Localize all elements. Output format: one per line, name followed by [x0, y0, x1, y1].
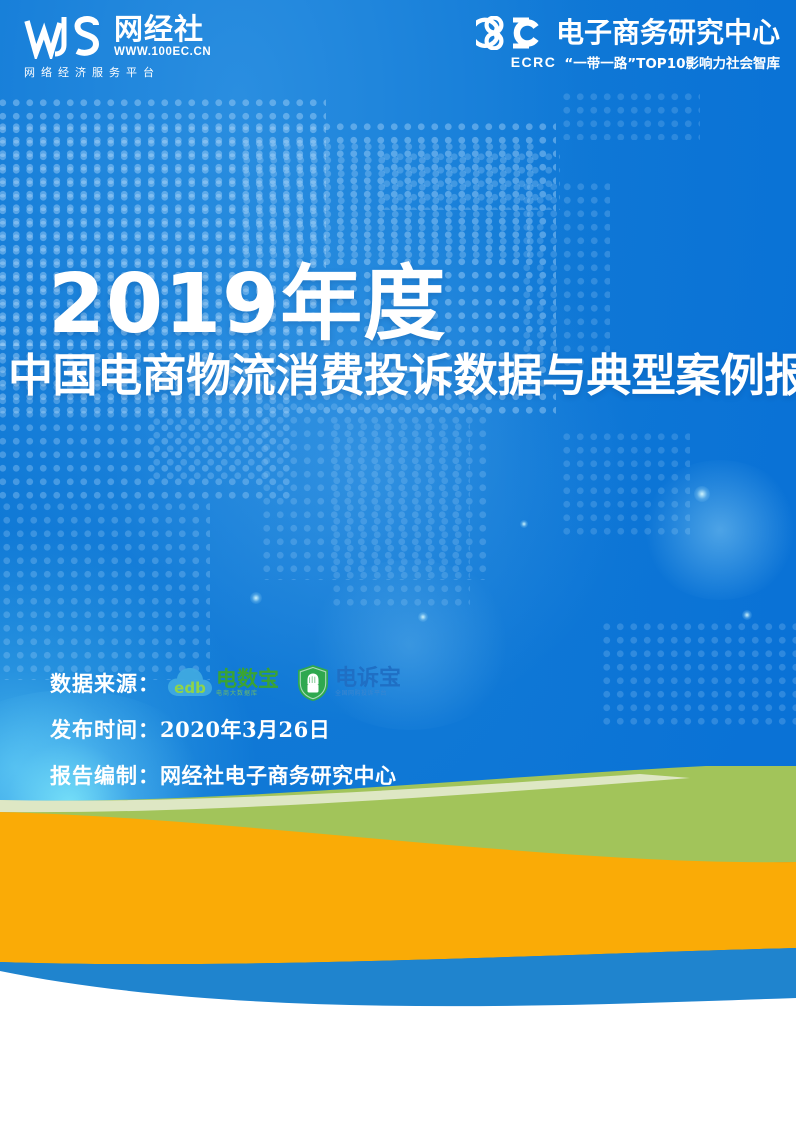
title-year: 2019年度	[48, 262, 446, 348]
logo-edb[interactable]: edb 电数宝 电商大数据库	[166, 666, 279, 700]
spark-dot	[250, 592, 262, 604]
title-main: 中国电商物流消费投诉数据与典型案例报告	[8, 350, 794, 402]
logo-name-cn: 网经社	[114, 14, 211, 45]
meta-value-release: 2020年3月26日	[160, 714, 330, 744]
bottom-wave-decoration	[0, 766, 796, 1126]
ws-monogram-icon	[24, 15, 110, 59]
logo-edb-subtitle: 电商大数据库	[216, 690, 279, 698]
logo-slogan: “一带一路”TOP10影响力社会智库	[564, 52, 780, 72]
report-cover: 网经社 WWW.100EC.CN 网络经济服务平台 电子商务研究中心 ECRC …	[0, 0, 796, 1126]
spark-dot	[418, 612, 428, 622]
cloud-icon: edb	[166, 666, 214, 700]
spark-dot	[520, 520, 528, 528]
svg-text:edb: edb	[174, 679, 206, 697]
logo-edb-name: 电数宝	[216, 669, 279, 690]
ecrc-monogram-icon	[476, 16, 550, 50]
meta-row-source: 数据来源： edb 电数宝 电商大数据库	[50, 660, 750, 706]
logo-tagline: 网络经济服务平台	[24, 64, 220, 80]
logo-wangjingshe[interactable]: 网经社 WWW.100EC.CN 网络经济服务平台	[24, 14, 220, 86]
spark-dot	[694, 486, 710, 502]
shield-fist-icon	[295, 663, 331, 703]
logo-url: WWW.100EC.CN	[114, 46, 211, 59]
meta-row-release: 发布时间： 2020年3月26日	[50, 706, 750, 752]
logo-name-cn: 电子商务研究中心	[556, 18, 780, 48]
meta-label-release: 发布时间：	[50, 714, 160, 744]
logo-abbr: ECRC	[511, 54, 557, 70]
meta-label-source: 数据来源：	[50, 668, 160, 698]
glow-right	[640, 460, 796, 600]
spark-dot	[742, 610, 752, 620]
logo-ecrc[interactable]: 电子商务研究中心 ECRC “一带一路”TOP10影响力社会智库	[476, 16, 780, 78]
logo-dsb[interactable]: 电诉宝 全国网购投诉平台	[295, 663, 401, 703]
logo-dsb-subtitle: 全国网购投诉平台	[335, 690, 401, 698]
logo-dsb-name: 电诉宝	[335, 668, 401, 690]
